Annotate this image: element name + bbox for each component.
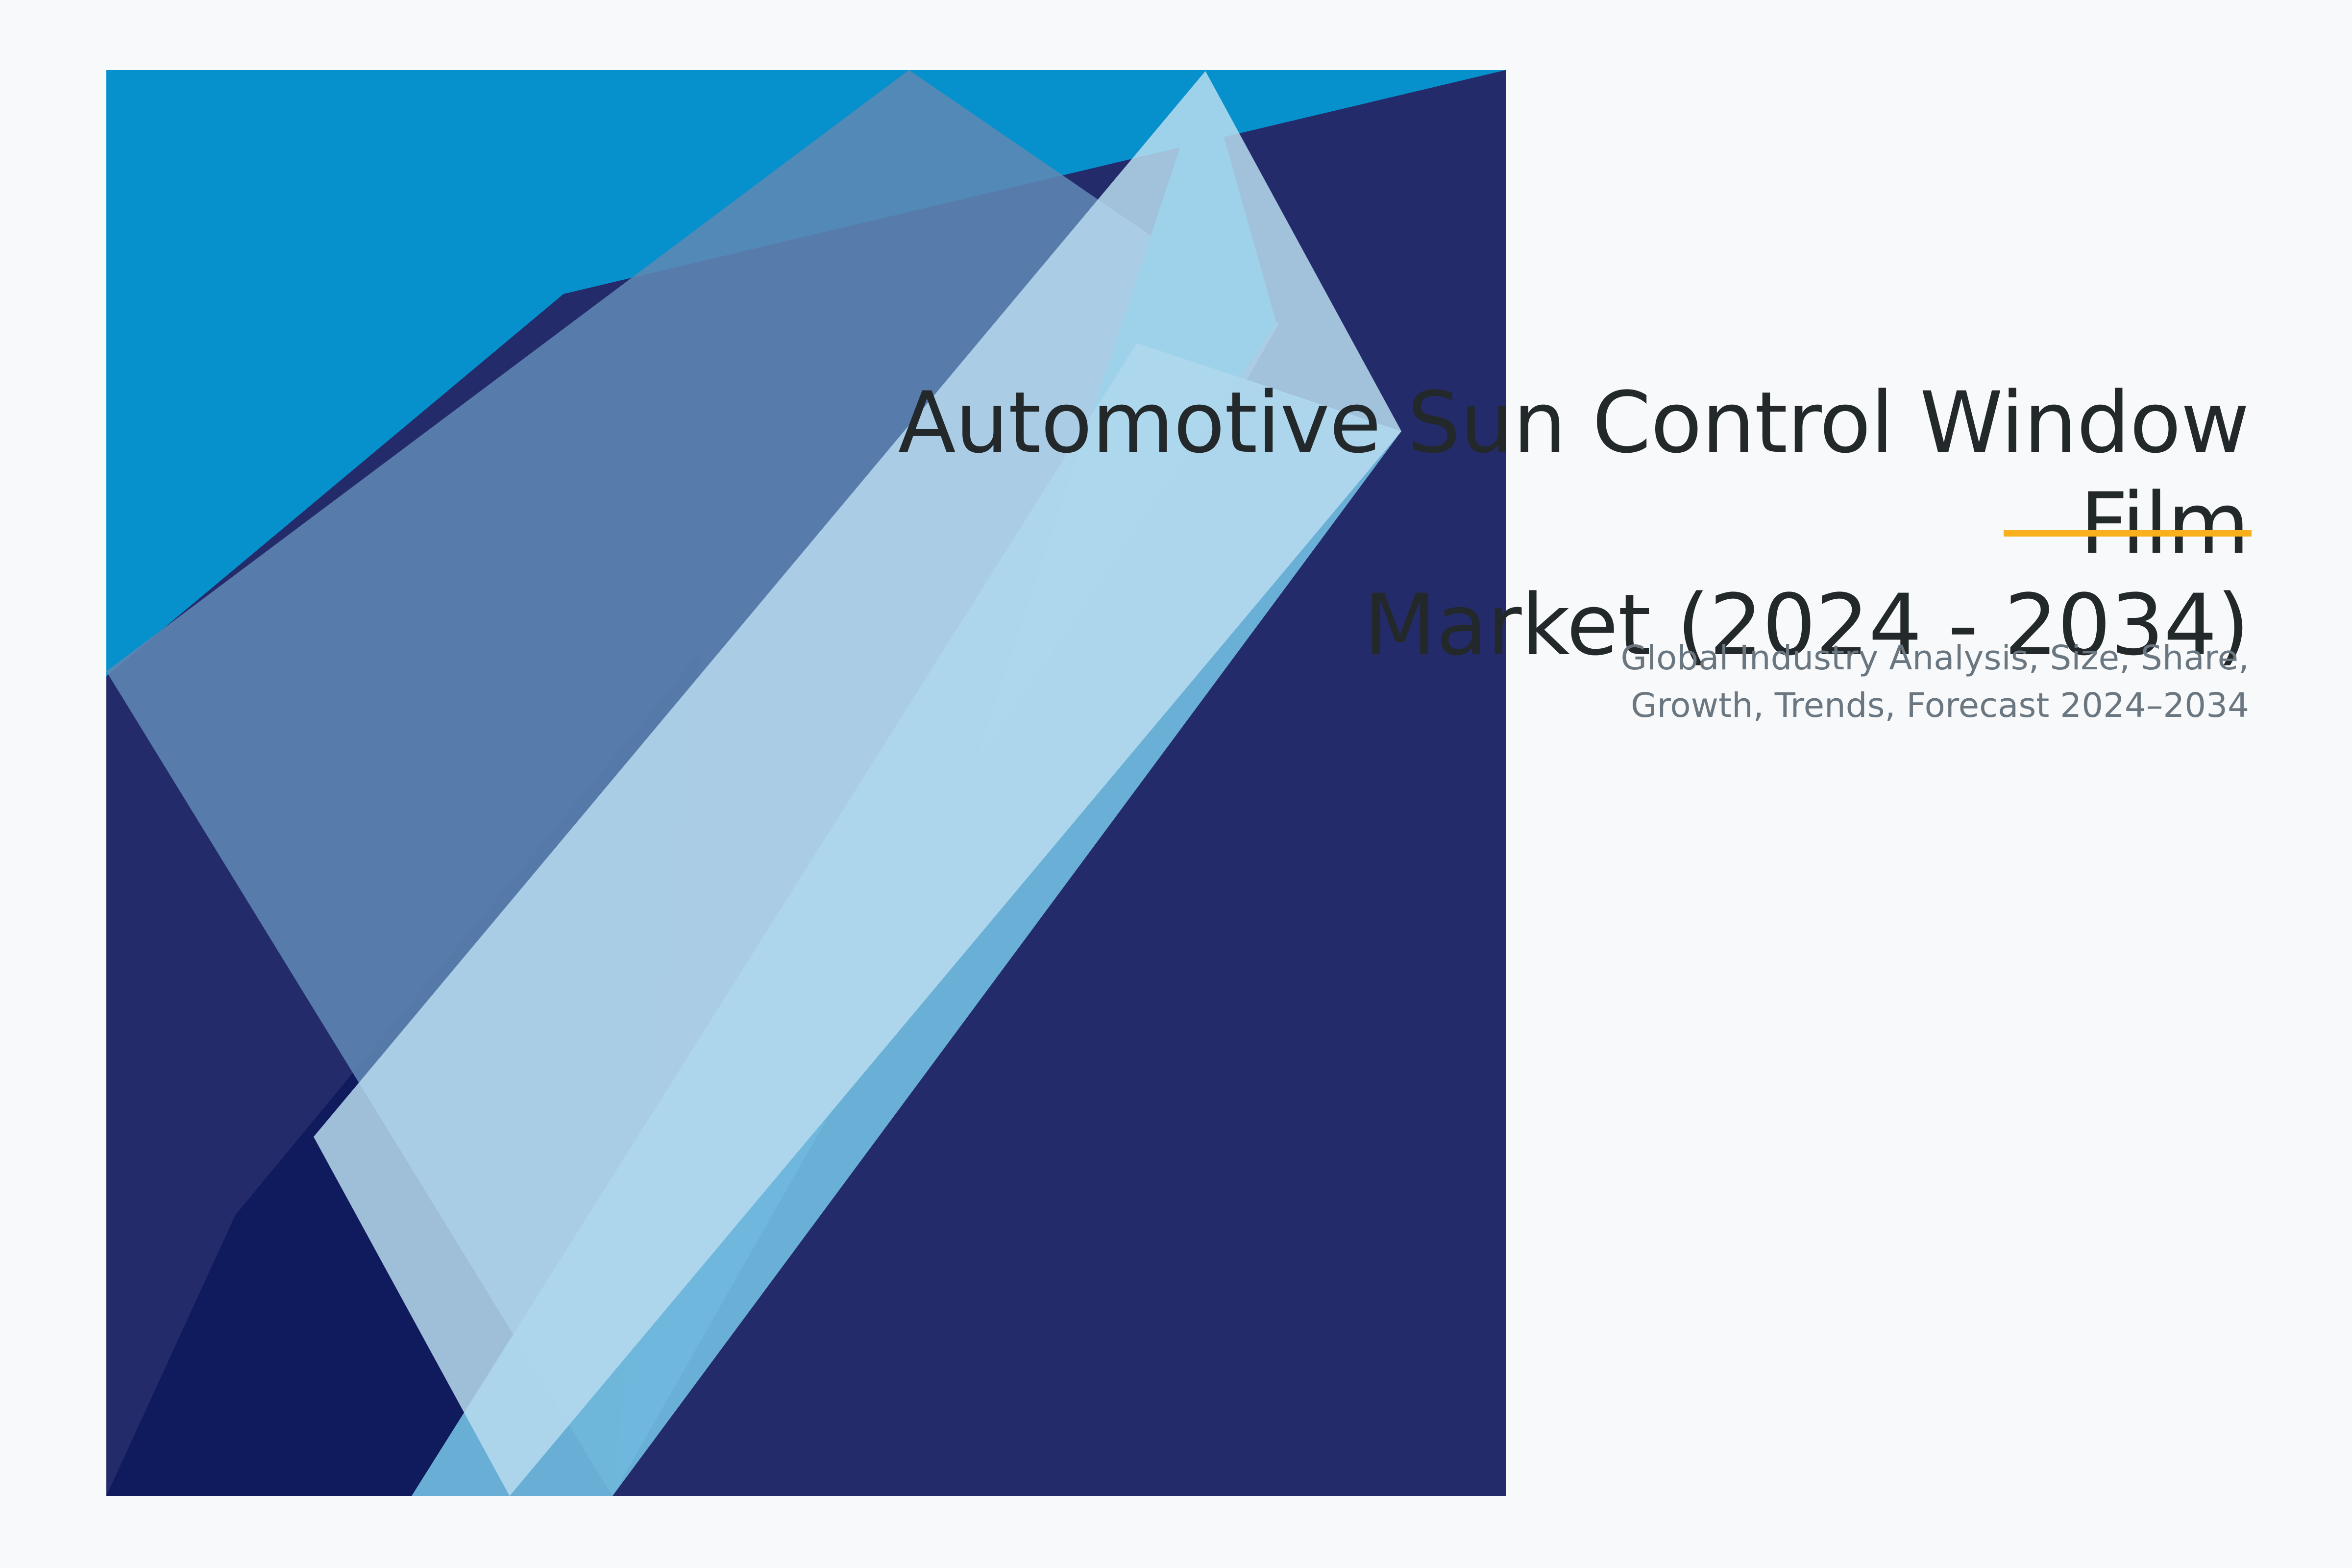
navy-diagonal-band [106,70,1506,1496]
pale-blue-translucent-panel [314,71,1401,1496]
abstract-geometric-artwork [0,0,2352,1568]
subtitle-block: Global Industry Analysis, Size, Share, G… [1269,635,2249,729]
page-title: Automotive Sun Control Window Film Marke… [779,372,2249,676]
page-subtitle: Global Industry Analysis, Size, Share, G… [1269,635,2249,729]
title-block: Automotive Sun Control Window Film Marke… [779,372,2249,676]
slate-blue-quadrilateral [106,70,1279,1496]
navy-dark-spike [106,652,701,1496]
cyan-top-left-block [106,70,1506,1496]
title-accent-rule [2004,530,2252,537]
report-cover-slide: Automotive Sun Control Window Film Marke… [0,0,2352,1568]
